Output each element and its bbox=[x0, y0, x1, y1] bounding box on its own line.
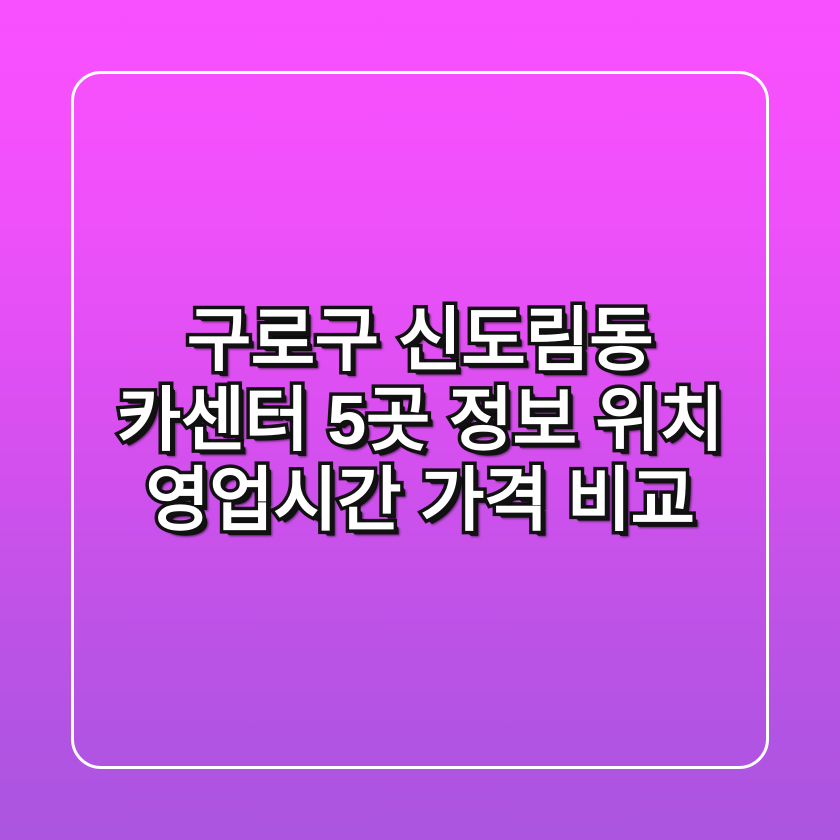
title-line-2: 카센터 5곳 정보 위치 bbox=[80, 381, 760, 459]
title-block: 구로구 신도림동 카센터 5곳 정보 위치 영업시간 가격 비교 bbox=[0, 0, 840, 840]
title-line-3: 영업시간 가격 비교 bbox=[80, 461, 760, 539]
title-line-1: 구로구 신도림동 bbox=[80, 301, 760, 379]
thumbnail-canvas: 구로구 신도림동 카센터 5곳 정보 위치 영업시간 가격 비교 bbox=[0, 0, 840, 840]
